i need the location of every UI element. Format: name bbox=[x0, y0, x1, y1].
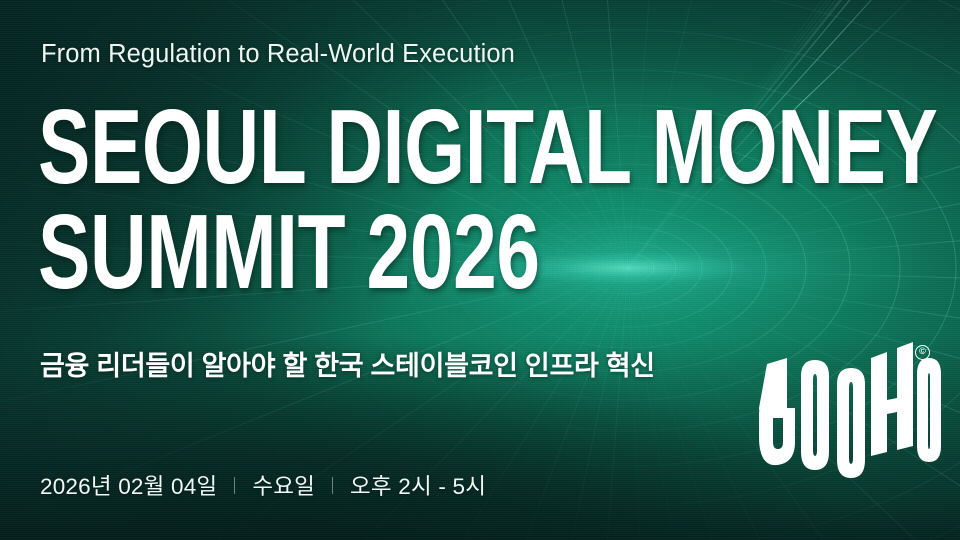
separator-icon bbox=[234, 477, 235, 494]
event-date: 2026년 02월 04일 bbox=[40, 469, 217, 501]
event-poster: From Regulation to Real-World Execution … bbox=[0, 0, 960, 540]
sooho-logo: © bbox=[757, 346, 932, 481]
tagline: From Regulation to Real-World Execution bbox=[41, 40, 515, 69]
event-time: 오후 2시 - 5시 bbox=[350, 469, 486, 501]
title-line-1: SEOUL DIGITAL MONEY bbox=[38, 99, 937, 197]
event-datetime-bar: 2026년 02월 04일 수요일 오후 2시 - 5시 bbox=[40, 469, 486, 501]
title-line-2: SUMMIT 2026 bbox=[38, 204, 937, 302]
page-title: SEOUL DIGITAL MONEY SUMMIT 2026 bbox=[38, 99, 960, 301]
separator-icon bbox=[332, 477, 333, 494]
event-weekday: 수요일 bbox=[252, 469, 315, 501]
registered-trademark-icon: © bbox=[915, 345, 930, 360]
subtitle: 금융 리더들이 알아야 할 한국 스테이블코인 인프라 혁신 bbox=[40, 344, 655, 383]
